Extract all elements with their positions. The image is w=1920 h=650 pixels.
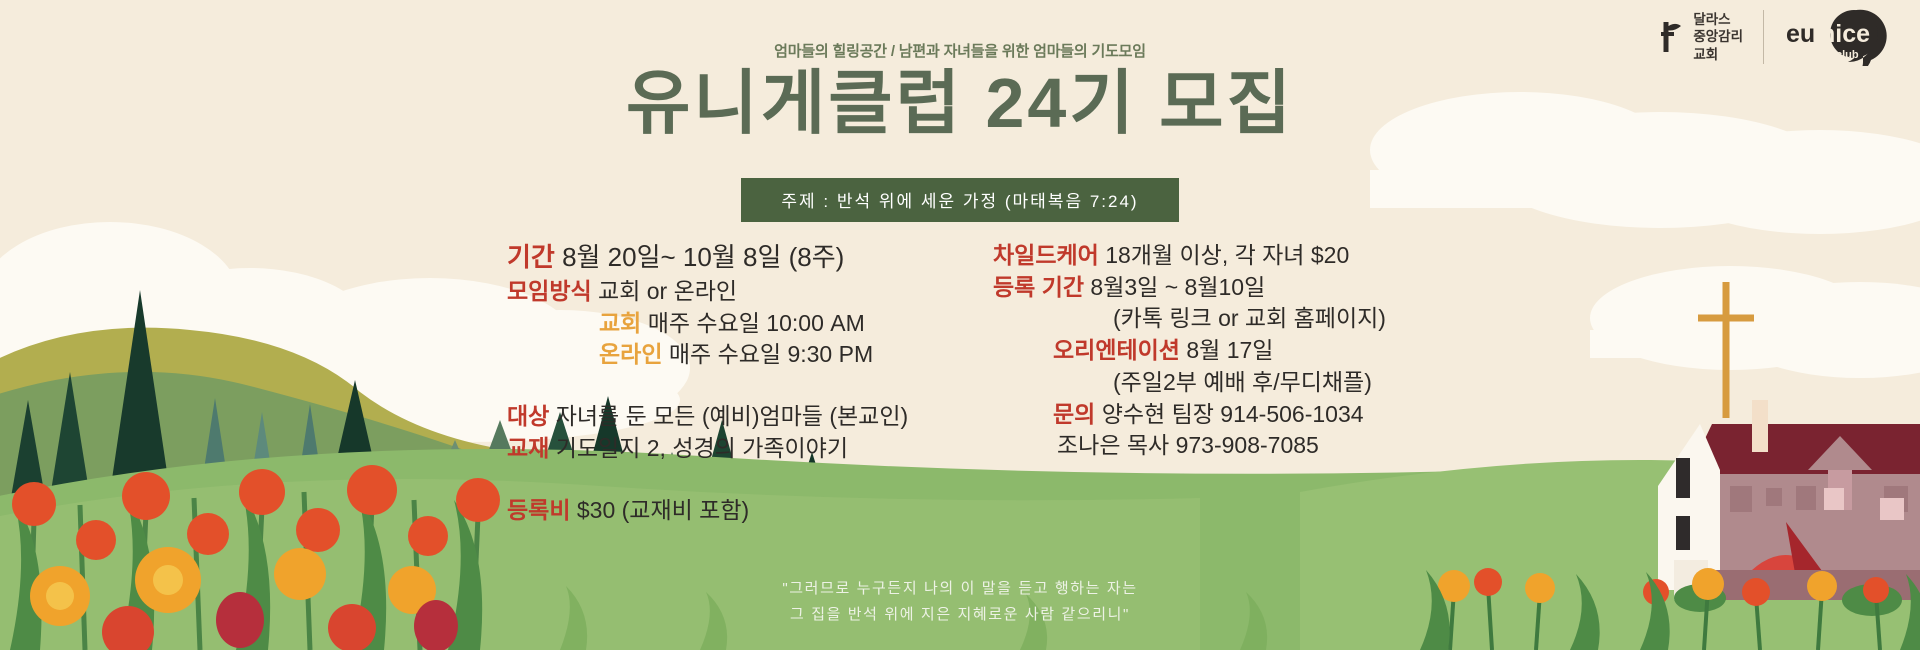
- church-logo-line2: 중앙감리: [1693, 28, 1743, 45]
- info-value: 매주 수요일 9:30 PM: [669, 341, 873, 367]
- spacer: [507, 465, 977, 495]
- info-row-contact-1: 문의 양수현 팀장 914-506-1034: [993, 399, 1413, 431]
- info-label: 대상: [507, 403, 556, 429]
- info-row-target: 대상 자녀를 둔 모든 (예비)엄마들 (본교인): [507, 401, 977, 433]
- info-value: 8월3일 ~ 8월10일: [1090, 274, 1265, 300]
- bible-verse: "그러므로 누구든지 나의 이 말을 듣고 행하는 자는 그 집을 반석 위에 …: [0, 576, 1920, 629]
- info-value: 매주 수요일 10:00 AM: [648, 310, 865, 336]
- church-logo-text: 달라스 중앙감리 교회: [1693, 11, 1743, 63]
- theme-banner: 주제 : 반석 위에 세운 가정 (마태복음 7:24): [741, 178, 1178, 222]
- poster-content: 엄마들의 힐링공간 / 남편과 자녀들을 위한 엄마들의 기도모임 유니게클럽 …: [0, 0, 1920, 650]
- poster-subtitle: 엄마들의 힐링공간 / 남편과 자녀들을 위한 엄마들의 기도모임: [0, 40, 1920, 61]
- spacer: [507, 371, 977, 401]
- church-logo-line1: 달라스: [1693, 11, 1743, 28]
- info-row-orientation: 오리엔테이션 8월 17일: [993, 335, 1413, 367]
- info-row-church-time: 교회 매주 수요일 10:00 AM: [507, 308, 977, 340]
- info-value: 18개월 이상, 각 자녀 $20: [1105, 242, 1349, 268]
- verse-line-1: "그러므로 누구든지 나의 이 말을 듣고 행하는 자는: [0, 576, 1920, 602]
- info-label: 온라인: [599, 341, 669, 367]
- info-value: 8월 17일: [1186, 337, 1273, 363]
- info-row-orientation-note: (주일2부 예배 후/무디채플): [993, 367, 1413, 399]
- info-row-fee: 등록비 $30 (교재비 포함): [507, 495, 977, 527]
- info-label: 오리엔테이션: [1053, 337, 1186, 363]
- logo-divider: [1763, 10, 1764, 64]
- info-section: 기간 8월 20일~ 10월 8일 (8주) 모임방식 교회 or 온라인 교회…: [0, 240, 1920, 526]
- info-label: 교회: [599, 310, 648, 336]
- info-value: (카톡 링크 or 교회 홈페이지): [1113, 305, 1386, 331]
- info-value: 조나은 목사 973-908-7085: [1057, 432, 1319, 458]
- eunice-logo[interactable]: eu nice club: [1784, 8, 1894, 66]
- verse-line-2: 그 집을 반석 위에 지은 지혜로운 사람 같으리니": [0, 602, 1920, 628]
- info-value: $30 (교재비 포함): [577, 497, 749, 523]
- svg-text:eu: eu: [1786, 20, 1815, 48]
- church-logo-line3: 교회: [1693, 46, 1743, 63]
- info-row-childcare: 차일드케어 18개월 이상, 각 자녀 $20: [993, 240, 1413, 272]
- info-value: (주일2부 예배 후/무디채플): [1113, 369, 1372, 395]
- info-label: 모임방식: [507, 278, 598, 304]
- info-label: 교재: [507, 435, 556, 461]
- info-value: 교회 or 온라인: [598, 278, 737, 304]
- church-cross-mark-icon: [1660, 20, 1686, 54]
- info-row-registration-note: (카톡 링크 or 교회 홈페이지): [993, 303, 1413, 335]
- church-logo[interactable]: 달라스 중앙감리 교회: [1660, 11, 1743, 63]
- info-value: 양수현 팀장 914-506-1034: [1102, 401, 1364, 427]
- info-row-period: 기간 8월 20일~ 10월 8일 (8주): [507, 240, 977, 276]
- svg-text:club: club: [1836, 49, 1859, 61]
- info-right-column: 차일드케어 18개월 이상, 각 자녀 $20 등록 기간 8월3일 ~ 8월1…: [993, 240, 1413, 462]
- poster-title: 유니게클럽 24기 모집: [0, 62, 1920, 145]
- info-row-contact-2: 조나은 목사 973-908-7085: [993, 430, 1413, 462]
- poster-root: 달라스 중앙감리 교회 eu nice club 엄마들의 힐링공간 / 남편과…: [0, 0, 1920, 650]
- info-label: 차일드케어: [993, 242, 1105, 268]
- info-label: 기간: [507, 242, 562, 272]
- info-value: 기도일지 2, 성경의 가족이야기: [556, 435, 848, 461]
- info-label: 등록 기간: [993, 274, 1090, 300]
- logo-bar: 달라스 중앙감리 교회 eu nice club: [1660, 8, 1894, 66]
- info-row-registration-period: 등록 기간 8월3일 ~ 8월10일: [993, 272, 1413, 304]
- info-row-textbook: 교재 기도일지 2, 성경의 가족이야기: [507, 433, 977, 465]
- eunice-logo-mark-icon: eu nice club: [1784, 8, 1894, 66]
- info-row-online-time: 온라인 매주 수요일 9:30 PM: [507, 339, 977, 371]
- info-left-column: 기간 8월 20일~ 10월 8일 (8주) 모임방식 교회 or 온라인 교회…: [507, 240, 977, 526]
- info-label: 등록비: [507, 497, 577, 523]
- info-label: 문의: [1053, 401, 1102, 427]
- info-row-format: 모임방식 교회 or 온라인: [507, 276, 977, 308]
- info-value: 자녀를 둔 모든 (예비)엄마들 (본교인): [556, 403, 908, 429]
- info-value: 8월 20일~ 10월 8일 (8주): [562, 242, 844, 272]
- theme-banner-wrap: 주제 : 반석 위에 세운 가정 (마태복음 7:24): [0, 178, 1920, 222]
- svg-text:nice: nice: [1820, 20, 1870, 48]
